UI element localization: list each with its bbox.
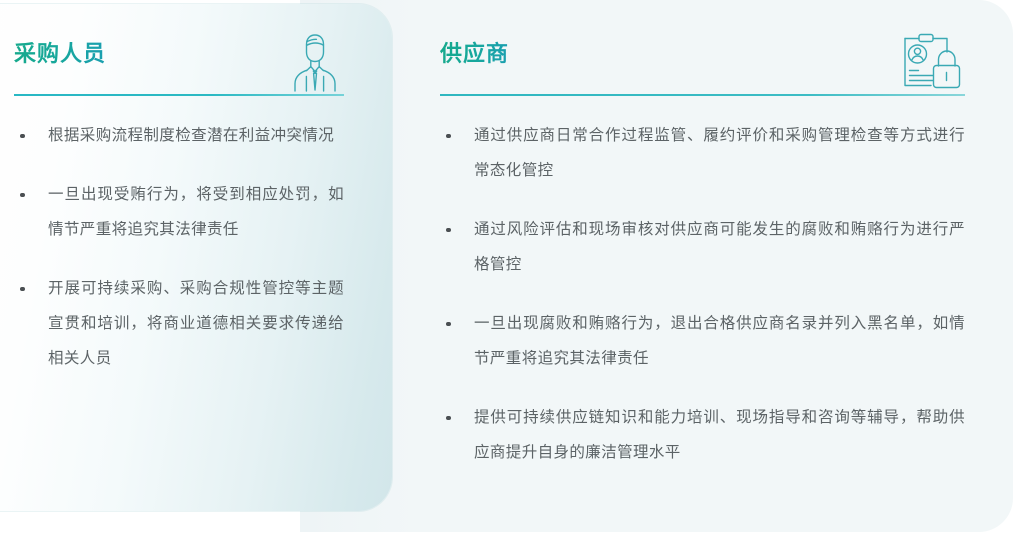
clipboard-lock-icon (893, 30, 965, 97)
list-item: 通过风险评估和现场审核对供应商可能发生的腐败和贿赂行为进行严格管控 (440, 212, 965, 282)
list-item: 一旦出现受贿行为，将受到相应处罚，如情节严重将追究其法律责任 (14, 177, 344, 247)
list-item: 根据采购流程制度检查潜在利益冲突情况 (14, 118, 344, 153)
bullet-dot-icon (20, 134, 25, 139)
panel-supplier: 供应商 (440, 30, 965, 470)
list-item: 开展可持续采购、采购合规性管控等主题宣贯和培训，将商业道德相关要求传递给相关人员 (14, 271, 344, 376)
page-title-supplier: 供应商 (440, 36, 509, 68)
list-item-text: 一旦出现受贿行为，将受到相应处罚，如情节严重将追究其法律责任 (48, 186, 344, 238)
list-item-text: 提供可持续供应链知识和能力培训、现场指导和咨询等辅导，帮助供应商提升自身的廉洁管… (474, 409, 965, 461)
bullet-dot-icon (446, 322, 451, 327)
slide-canvas: 采购人员 (0, 0, 1013, 537)
list-item-text: 开展可持续采购、采购合规性管控等主题宣贯和培训，将商业道德相关要求传递给相关人员 (48, 280, 344, 367)
panel-divider (440, 94, 965, 96)
list-item-text: 根据采购流程制度检查潜在利益冲突情况 (48, 127, 334, 144)
list-item: 提供可持续供应链知识和能力培训、现场指导和咨询等辅导，帮助供应商提升自身的廉洁管… (440, 400, 965, 470)
panel-procurement-staff: 采购人员 (14, 30, 344, 376)
page-title-procurement-staff: 采购人员 (14, 36, 106, 68)
list-item: 一旦出现腐败和贿赂行为，退出合格供应商名录并列入黑名单，如情节严重将追究其法律责… (440, 306, 965, 376)
person-tie-icon (286, 30, 344, 97)
bullet-dot-icon (446, 416, 451, 421)
panel-header: 供应商 (440, 30, 965, 92)
bullet-dot-icon (20, 193, 25, 198)
bullet-dot-icon (446, 228, 451, 233)
list-item-text: 通过风险评估和现场审核对供应商可能发生的腐败和贿赂行为进行严格管控 (474, 221, 965, 273)
bullet-dot-icon (446, 134, 451, 139)
list-item: 通过供应商日常合作过程监管、履约评价和采购管理检查等方式进行常态化管控 (440, 118, 965, 188)
panel-header: 采购人员 (14, 30, 344, 92)
bullet-list-procurement-staff: 根据采购流程制度检查潜在利益冲突情况 一旦出现受贿行为，将受到相应处罚，如情节严… (14, 118, 344, 376)
list-item-text: 一旦出现腐败和贿赂行为，退出合格供应商名录并列入黑名单，如情节严重将追究其法律责… (474, 315, 965, 367)
list-item-text: 通过供应商日常合作过程监管、履约评价和采购管理检查等方式进行常态化管控 (474, 127, 965, 179)
bullet-list-supplier: 通过供应商日常合作过程监管、履约评价和采购管理检查等方式进行常态化管控 通过风险… (440, 118, 965, 470)
bullet-dot-icon (20, 287, 25, 292)
